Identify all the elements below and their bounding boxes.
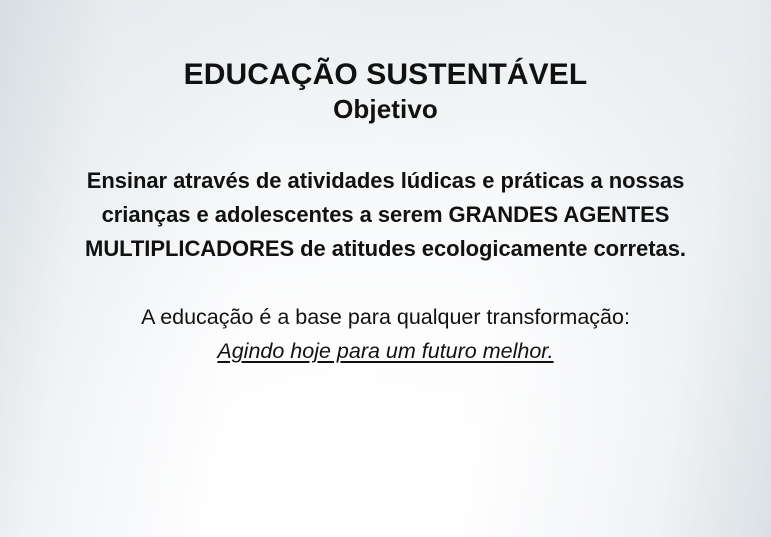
closing-emphasis-text: Agindo hoje para um futuro melhor.: [76, 334, 696, 368]
closing-lead-text: A educação é a base para qualquer transf…: [76, 300, 696, 334]
page-subtitle: Objetivo: [66, 93, 706, 126]
slide-canvas: EDUCAÇÃO SUSTENTÁVEL Objetivo Ensinar at…: [0, 0, 771, 537]
objective-paragraph: Ensinar através de atividades lúdicas e …: [84, 126, 688, 266]
slide-content: EDUCAÇÃO SUSTENTÁVEL Objetivo Ensinar at…: [66, 0, 706, 368]
title-block: EDUCAÇÃO SUSTENTÁVEL Objetivo: [66, 0, 706, 126]
closing-paragraph: A educação é a base para qualquer transf…: [76, 266, 696, 368]
page-title: EDUCAÇÃO SUSTENTÁVEL: [66, 56, 706, 93]
